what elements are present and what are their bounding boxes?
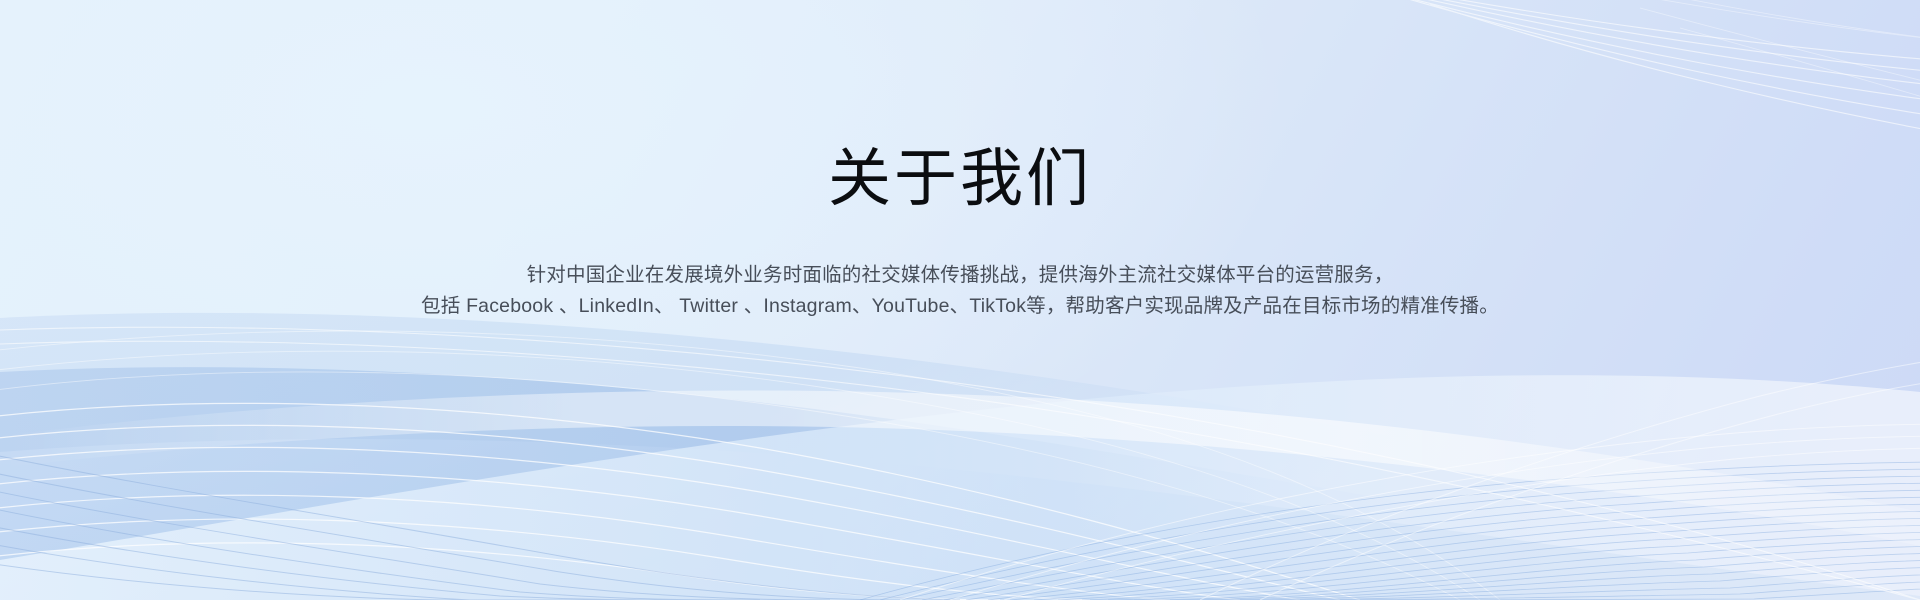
description-line-1: 针对中国企业在发展境外业务时面临的社交媒体传播挑战，提供海外主流社交媒体平台的运… [0,260,1920,291]
about-us-banner: 关于我们 针对中国企业在发展境外业务时面临的社交媒体传播挑战，提供海外主流社交媒… [0,0,1920,600]
banner-description: 针对中国企业在发展境外业务时面临的社交媒体传播挑战，提供海外主流社交媒体平台的运… [0,260,1920,322]
description-line-2: 包括 Facebook 、LinkedIn、 Twitter 、Instagra… [0,291,1920,322]
page-title: 关于我们 [0,142,1920,216]
banner-text-block: 关于我们 针对中国企业在发展境外业务时面临的社交媒体传播挑战，提供海外主流社交媒… [0,0,1920,322]
